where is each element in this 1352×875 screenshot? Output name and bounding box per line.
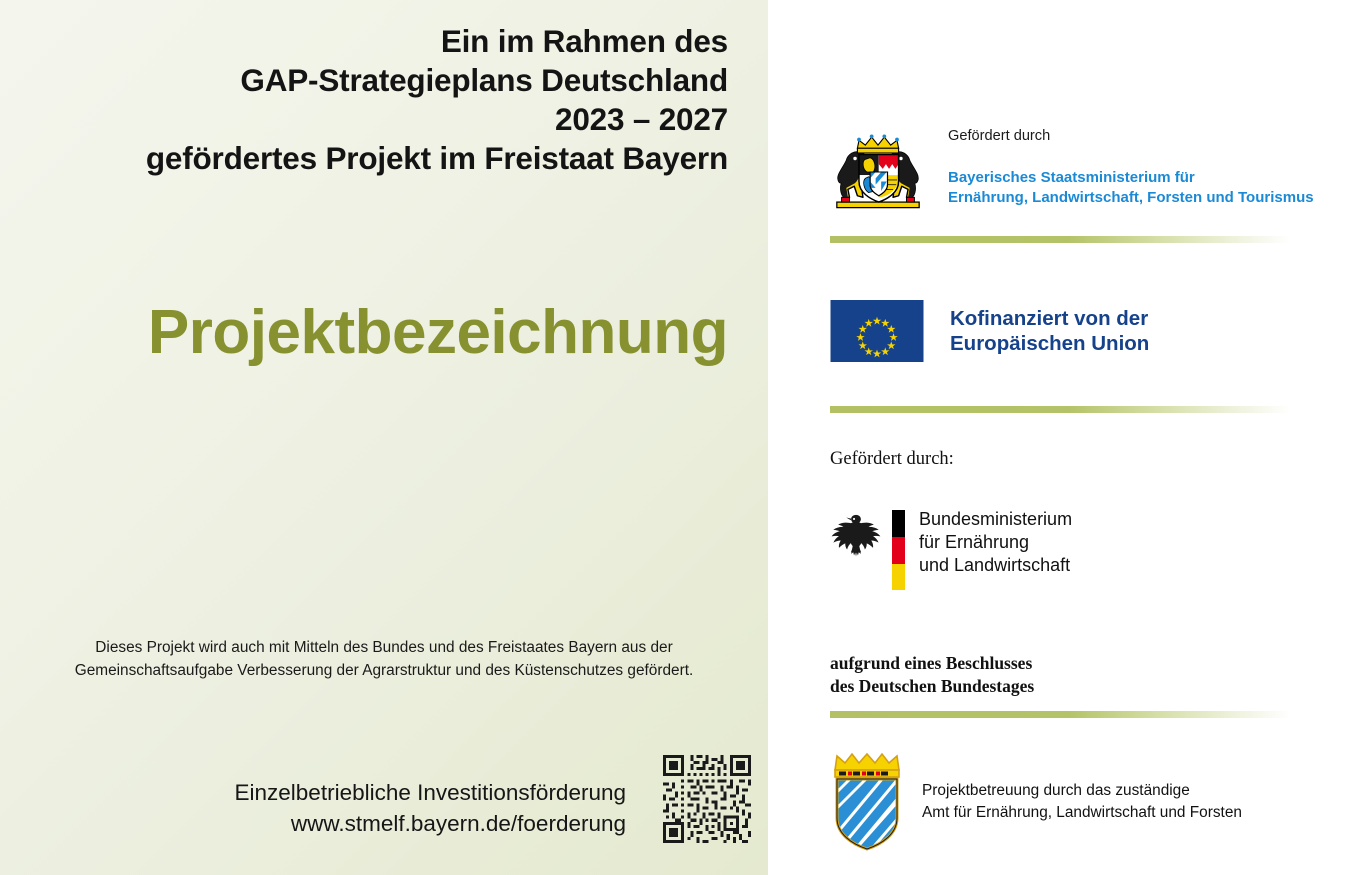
right-panel: Gefördert durch Bayerisches Staatsminist…: [768, 0, 1352, 875]
bundestag-footnote-line-2: des Deutschen Bundestages: [830, 675, 1072, 698]
bundestag-footnote-line-1: aufgrund eines Beschlusses: [830, 652, 1072, 675]
divider-3: [830, 711, 1290, 718]
divider-1: [830, 236, 1290, 243]
eu-text-line-1: Kofinanziert von der: [950, 306, 1149, 331]
bavarian-shield-icon: [830, 752, 904, 852]
stmelf-name: Bayerisches Staatsministerium für Ernähr…: [948, 168, 1314, 209]
funding-note: Dieses Projekt wird auch mit Mitteln des…: [24, 636, 744, 682]
bmel-name-line-1: Bundesministerium: [919, 508, 1072, 531]
bmel-name: Bundesministerium für Ernährung und Land…: [919, 508, 1072, 577]
programme-name: Einzelbetriebliche Investitionsförderung: [235, 777, 626, 808]
page-title: Projektbezeichnung: [0, 302, 728, 364]
stmelf-logo-block: Gefördert durch Bayerisches Staatsminist…: [830, 126, 1314, 210]
bottom-left-block: Einzelbetriebliche Investitionsförderung…: [0, 753, 768, 853]
funding-note-line-2: Gemeinschaftsaufgabe Verbesserung der Ag…: [24, 659, 744, 682]
headline-line-3: 2023 – 2027: [28, 100, 728, 139]
headline: Ein im Rahmen des GAP-Strategieplans Deu…: [28, 22, 728, 178]
eu-text-line-2: Europäischen Union: [950, 331, 1149, 356]
programme-info: Einzelbetriebliche Investitionsförderung…: [235, 777, 626, 839]
aelf-logo-block: Projektbetreuung durch das zuständige Am…: [830, 752, 1242, 852]
aelf-text: Projektbetreuung durch das zuständige Am…: [922, 780, 1242, 824]
funding-note-line-1: Dieses Projekt wird auch mit Mitteln des…: [24, 636, 744, 659]
left-panel: Ein im Rahmen des GAP-Strategieplans Deu…: [0, 0, 768, 875]
stmelf-name-line-1: Bayerisches Staatsministerium für: [948, 168, 1314, 189]
headline-line-4: gefördertes Projekt im Freistaat Bayern: [28, 139, 728, 178]
bundestag-footnote: aufgrund eines Beschlusses des Deutschen…: [830, 652, 1072, 699]
headline-line-1: Ein im Rahmen des: [28, 22, 728, 61]
eu-cofunding-text: Kofinanziert von der Europäischen Union: [950, 306, 1149, 356]
aelf-text-line-1: Projektbetreuung durch das zuständige: [922, 780, 1242, 802]
eu-flag-icon: [830, 300, 924, 362]
federal-eagle-icon: [830, 510, 882, 562]
bmel-funding-label: Gefördert durch:: [830, 448, 1072, 470]
aelf-text-line-2: Amt für Ernährung, Landwirtschaft und Fo…: [922, 802, 1242, 824]
bmel-logo-block: Gefördert durch:: [830, 448, 1072, 699]
headline-line-2: GAP-Strategieplans Deutschland: [28, 61, 728, 100]
qr-code-icon: [663, 755, 751, 843]
programme-url: www.stmelf.bayern.de/foerderung: [235, 808, 626, 839]
stmelf-funding-label: Gefördert durch: [948, 128, 1314, 146]
divider-2: [830, 406, 1290, 413]
bmel-name-line-2: für Ernährung: [919, 531, 1072, 554]
stmelf-name-line-2: Ernährung, Landwirtschaft, Forsten und T…: [948, 188, 1314, 209]
bavarian-coat-of-arms-icon: [830, 134, 926, 210]
bmel-name-line-3: und Landwirtschaft: [919, 554, 1072, 577]
german-flag-bar-icon: [892, 510, 905, 590]
poster-canvas: Ein im Rahmen des GAP-Strategieplans Deu…: [0, 0, 1352, 875]
eu-logo-block: Kofinanziert von der Europäischen Union: [830, 300, 1149, 362]
